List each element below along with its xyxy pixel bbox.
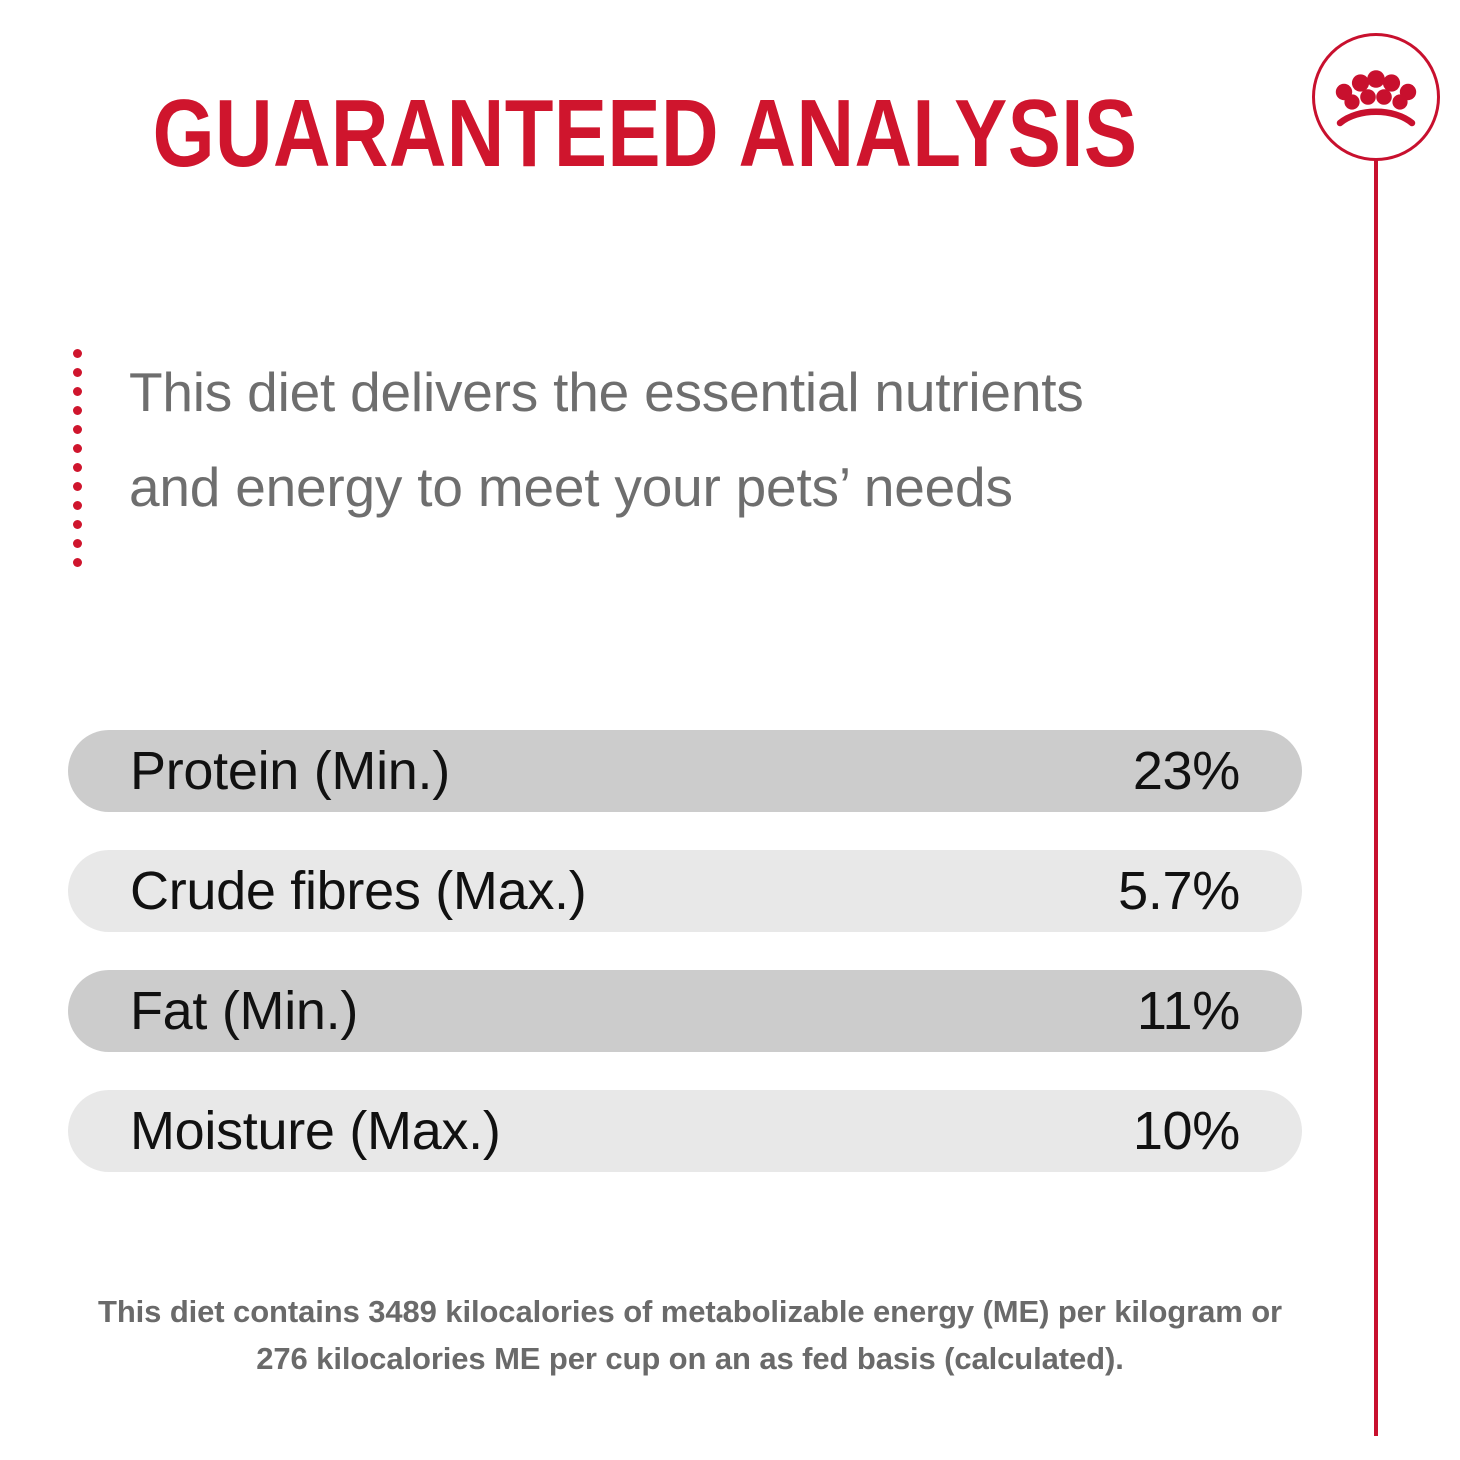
nutrient-value: 5.7%: [1118, 860, 1240, 922]
intro-block: This diet delivers the essential nutrien…: [70, 345, 1300, 571]
nutrient-value: 10%: [1133, 1100, 1240, 1162]
table-row: Fat (Min.) 11%: [68, 970, 1302, 1052]
accent-dot: [73, 558, 82, 567]
guaranteed-analysis-card: GUARANTEED ANALYSIS This diet delivers t…: [0, 0, 1460, 1460]
table-row: Protein (Min.) 23%: [68, 730, 1302, 812]
logo-stem-line: [1374, 160, 1378, 1436]
accent-dot: [73, 539, 82, 548]
accent-dot: [73, 425, 82, 434]
table-row: Moisture (Max.) 10%: [68, 1090, 1302, 1172]
accent-dot: [73, 463, 82, 472]
accent-dot: [73, 349, 82, 358]
nutrient-label: Protein (Min.): [130, 740, 450, 802]
accent-dot: [73, 520, 82, 529]
accent-dot: [73, 387, 82, 396]
footer-note: This diet contains 3489 kilocalories of …: [95, 1288, 1285, 1382]
accent-dot: [73, 501, 82, 510]
royal-canin-logo: [1312, 33, 1440, 161]
accent-dot: [73, 482, 82, 491]
nutrient-label: Fat (Min.): [130, 980, 358, 1042]
nutrient-value: 23%: [1133, 740, 1240, 802]
intro-text: This diet delivers the essential nutrien…: [129, 345, 1084, 571]
royal-canin-crown-icon: [1334, 66, 1418, 128]
page-title: GUARANTEED ANALYSIS: [110, 86, 1181, 182]
accent-dot: [73, 444, 82, 453]
dotted-accent-rule: [70, 345, 84, 571]
nutrient-table: Protein (Min.) 23% Crude fibres (Max.) 5…: [68, 730, 1302, 1172]
nutrient-label: Crude fibres (Max.): [130, 860, 586, 922]
table-row: Crude fibres (Max.) 5.7%: [68, 850, 1302, 932]
accent-dot: [73, 406, 82, 415]
accent-dot: [73, 368, 82, 377]
nutrient-value: 11%: [1137, 980, 1240, 1042]
nutrient-label: Moisture (Max.): [130, 1100, 501, 1162]
